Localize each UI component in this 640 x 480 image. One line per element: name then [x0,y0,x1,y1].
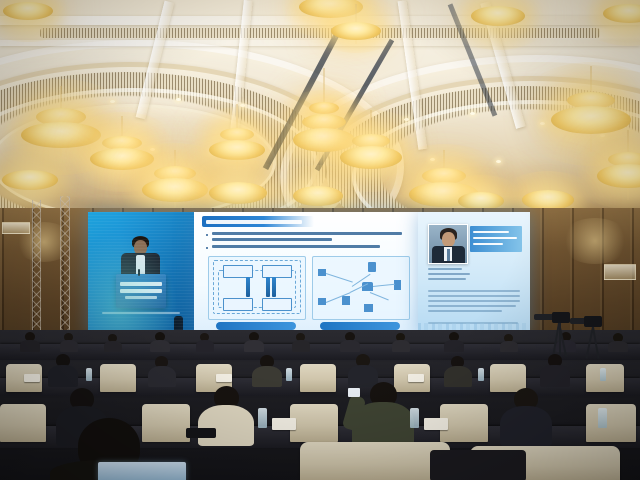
chandelier-top-far-right [600,0,640,38]
bullet-marker [206,247,208,249]
smartphone [348,388,360,397]
attendee-shoulders [60,340,78,352]
attendee [20,332,40,350]
profile-body-line [428,300,520,302]
attendee [540,354,570,386]
attendee [292,333,310,351]
diagram-left-arrow-2 [266,277,270,297]
diagram-left-arrow-1 [246,277,250,297]
diagram-right-ribbon [320,322,400,330]
led-screen-slide [194,212,418,337]
exit-sign-left [2,222,30,234]
video-light-streak [102,312,180,314]
node-icon-building [368,262,376,272]
attendee [444,356,472,386]
name-card [408,374,424,382]
water-bottle [598,408,607,428]
chandelier-far-left-low [0,152,60,212]
attendee-photographing [352,382,414,446]
attendee-shoulders [104,341,122,352]
profile-headline-box [470,226,522,252]
bullet-line [212,245,380,248]
led-screen-profile-panel [418,212,530,337]
diagram-left-arrow-3 [272,277,276,297]
attendee [500,388,552,444]
podium-sign-line [120,282,162,286]
table-bag [186,428,216,438]
diagram-left-box-4 [262,298,292,311]
node-icon-home [364,304,373,312]
profile-name-line [428,278,466,280]
tripod-leg [592,327,600,359]
attendee-shoulders [48,365,78,387]
podium-sign-line [120,289,162,293]
profile-headline-line [473,237,517,239]
attendee-shoulders [20,340,40,352]
bullet-line [212,232,402,235]
attendee-shoulders [540,365,570,387]
profile-name-line [428,268,462,270]
speaker-portrait-photo [428,224,468,264]
diagram-left-ribbon [216,322,296,330]
diagram-left-box-3 [223,298,253,311]
water-bottle [600,368,606,381]
attendee [60,333,78,351]
water-bottle [410,408,419,428]
attendee [500,334,518,351]
node-icon-generation-1 [318,269,326,276]
attendee-shoulders [444,366,472,387]
attendee-shoulders [196,340,214,352]
name-card [424,418,448,430]
camera-body [552,312,570,323]
broadcast-camera-right [570,316,610,366]
chair [0,404,46,442]
name-card [216,374,232,382]
attendee-shoulders [148,366,176,387]
attendee [150,332,170,351]
name-card [24,374,40,382]
speaker-shirt [136,255,145,277]
attendee [148,356,176,386]
attendee [244,332,264,351]
water-bottle [258,408,267,428]
attendee [104,334,122,351]
conference-hall-photo [0,0,640,480]
bullet-line [212,238,332,241]
ceiling-downlight [470,112,475,115]
tripod-leg [559,323,561,355]
chandelier-a [330,4,382,44]
attendee-shoulders [500,341,518,352]
laptop-screen [98,462,186,480]
portrait-tie [447,249,450,261]
attendee-foreground-right [430,450,526,480]
slide-title-text [206,220,302,224]
node-icon-document [394,280,401,290]
chair-foreground [300,442,450,480]
chandelier-top-right [468,0,528,40]
attendee [392,333,410,351]
attendee [196,333,214,351]
attendee-shoulders [198,405,254,446]
profile-headline-line [473,243,503,245]
portrait-face [442,232,455,247]
profile-body-line [428,310,502,312]
speaker-head [134,240,147,255]
attendee [252,355,282,386]
profile-body-line [428,290,520,292]
camera-body [584,316,602,327]
water-bottle [478,368,484,381]
speaker-figure [88,212,194,337]
attendee-shoulders [500,406,552,446]
chair [586,404,636,442]
truss-tower-left-b [60,196,70,348]
ballroom-ceiling [0,0,640,218]
chandelier-top-far-left [0,0,56,34]
podium-sign-line [125,296,157,299]
chair [290,404,338,442]
podium [116,274,166,308]
wall-glow-right [560,218,630,264]
microphone [138,269,140,276]
profile-body-line [428,305,516,307]
attendee-shoulders [244,340,264,352]
attendee [48,354,78,386]
audience-area [0,330,640,480]
led-screen-speaker-video [88,212,194,337]
attendee-shoulders [150,340,170,352]
wall-art-right [604,264,636,280]
attendee-shoulders [252,366,282,387]
speaker-hair [132,236,149,248]
attendee-shoulders [292,340,310,352]
chandelier-far-right [596,130,640,200]
ceiling-downlight [176,98,181,101]
attendee [340,332,360,351]
attendee [444,332,464,351]
bullet-marker [206,234,208,236]
attendee-shoulders [444,340,464,352]
profile-body-line [428,295,520,297]
attendee-shoulders [340,340,360,352]
attendee-shoulders [392,340,410,352]
water-bottle [86,368,92,381]
attendee-shoulders [608,341,628,352]
name-card [272,418,296,430]
attendee [608,333,628,351]
chair [300,364,336,392]
truss-tower-left-a [32,200,41,350]
water-bottle [286,368,292,381]
slide-title-bar [202,216,314,227]
profile-name-line [428,273,470,275]
profile-headline-line [473,231,509,233]
speaker-torso [121,253,160,283]
node-icon-factory [342,296,350,305]
